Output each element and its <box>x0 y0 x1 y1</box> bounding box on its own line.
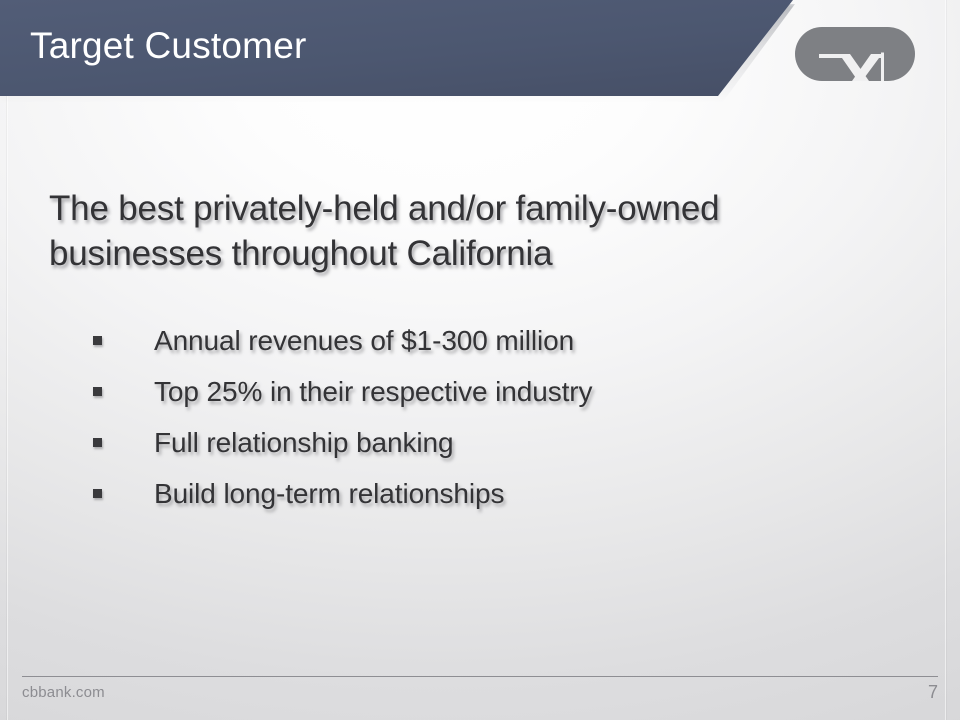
square-bullet-icon <box>93 489 102 498</box>
list-item: Build long-term relationships <box>92 468 872 519</box>
square-bullet-icon <box>93 336 102 345</box>
footer-divider <box>22 676 938 677</box>
slide-page-number: 7 <box>880 682 938 703</box>
list-item-label: Build long-term relationships <box>154 478 504 509</box>
right-edge-rule <box>945 0 946 720</box>
footer-website: cbbank.com <box>22 684 105 701</box>
list-item-label: Top 25% in their respective industry <box>154 376 592 407</box>
list-item: Full relationship banking <box>92 417 872 468</box>
bullet-list: Annual revenues of $1-300 million Top 25… <box>92 315 872 519</box>
list-item-label: Annual revenues of $1-300 million <box>154 325 574 356</box>
page-title: Target Customer <box>30 26 307 67</box>
square-bullet-icon <box>93 438 102 447</box>
left-edge-rule <box>7 0 8 720</box>
square-bullet-icon <box>93 387 102 396</box>
slide: Target Customer The best privately-held … <box>0 0 960 720</box>
list-item: Annual revenues of $1-300 million <box>92 315 872 366</box>
list-item: Top 25% in their respective industry <box>92 366 872 417</box>
slide-content: The best privately-held and/or family-ow… <box>0 0 960 720</box>
cvb-logo <box>795 27 915 81</box>
list-item-label: Full relationship banking <box>154 427 453 458</box>
lead-statement: The best privately-held and/or family-ow… <box>49 186 879 276</box>
